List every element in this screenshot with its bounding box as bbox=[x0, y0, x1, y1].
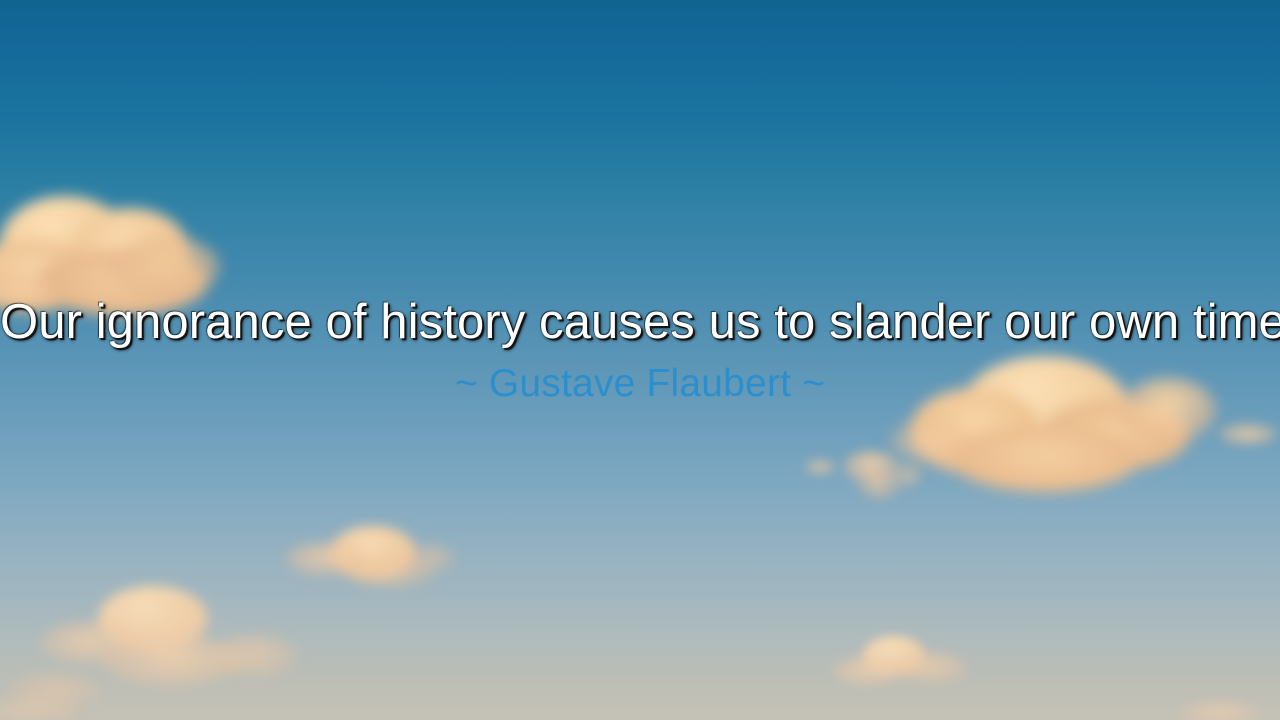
cloud-puff bbox=[950, 426, 1140, 492]
quote-block: Our ignorance of history causes us to sl… bbox=[0, 296, 1280, 406]
cloud-puff bbox=[40, 622, 140, 664]
cloud-puff bbox=[1218, 422, 1278, 446]
cloud-puff bbox=[893, 652, 967, 684]
cloud-puff bbox=[863, 636, 925, 676]
cloud-bottom-right bbox=[815, 630, 985, 706]
cloud-puff bbox=[102, 636, 242, 686]
cloud-puff bbox=[345, 556, 435, 588]
cloud-puff bbox=[285, 542, 365, 576]
cloud-puff bbox=[891, 462, 923, 488]
cloud-puff bbox=[10, 672, 100, 710]
cloud-puff bbox=[70, 208, 190, 298]
cloud-mid-right-wisp bbox=[795, 444, 925, 506]
horizon-haze bbox=[0, 480, 1280, 720]
cloud-puff bbox=[803, 458, 837, 476]
cloud-puff bbox=[407, 544, 455, 572]
cloud-mid-bottom bbox=[275, 518, 460, 606]
quote-text: Our ignorance of history causes us to sl… bbox=[0, 296, 1280, 349]
cloud-puff bbox=[98, 586, 208, 652]
cloud-puff bbox=[843, 450, 899, 484]
cloud-puff bbox=[330, 526, 416, 580]
cloud-bottom-left bbox=[10, 578, 310, 718]
cloud-puff bbox=[0, 696, 80, 720]
cloud-puff bbox=[857, 470, 901, 500]
cloud-puff bbox=[208, 634, 298, 678]
cloud-puff bbox=[833, 656, 903, 686]
cloud-corner-wisp bbox=[1180, 694, 1280, 720]
cloud-puff bbox=[158, 600, 254, 660]
cloud-puff bbox=[110, 236, 220, 298]
cloud-puff bbox=[890, 418, 970, 464]
cloud-puff bbox=[1040, 400, 1190, 470]
cloud-puff bbox=[1180, 700, 1260, 720]
cloud-bottom-edge-wisp bbox=[0, 690, 100, 720]
quote-author: ~ Gustave Flaubert ~ bbox=[0, 363, 1280, 406]
quote-scene: Our ignorance of history causes us to sl… bbox=[0, 0, 1280, 720]
cloud-puff bbox=[0, 196, 130, 292]
cloud-far-right-wisp bbox=[1218, 418, 1280, 452]
